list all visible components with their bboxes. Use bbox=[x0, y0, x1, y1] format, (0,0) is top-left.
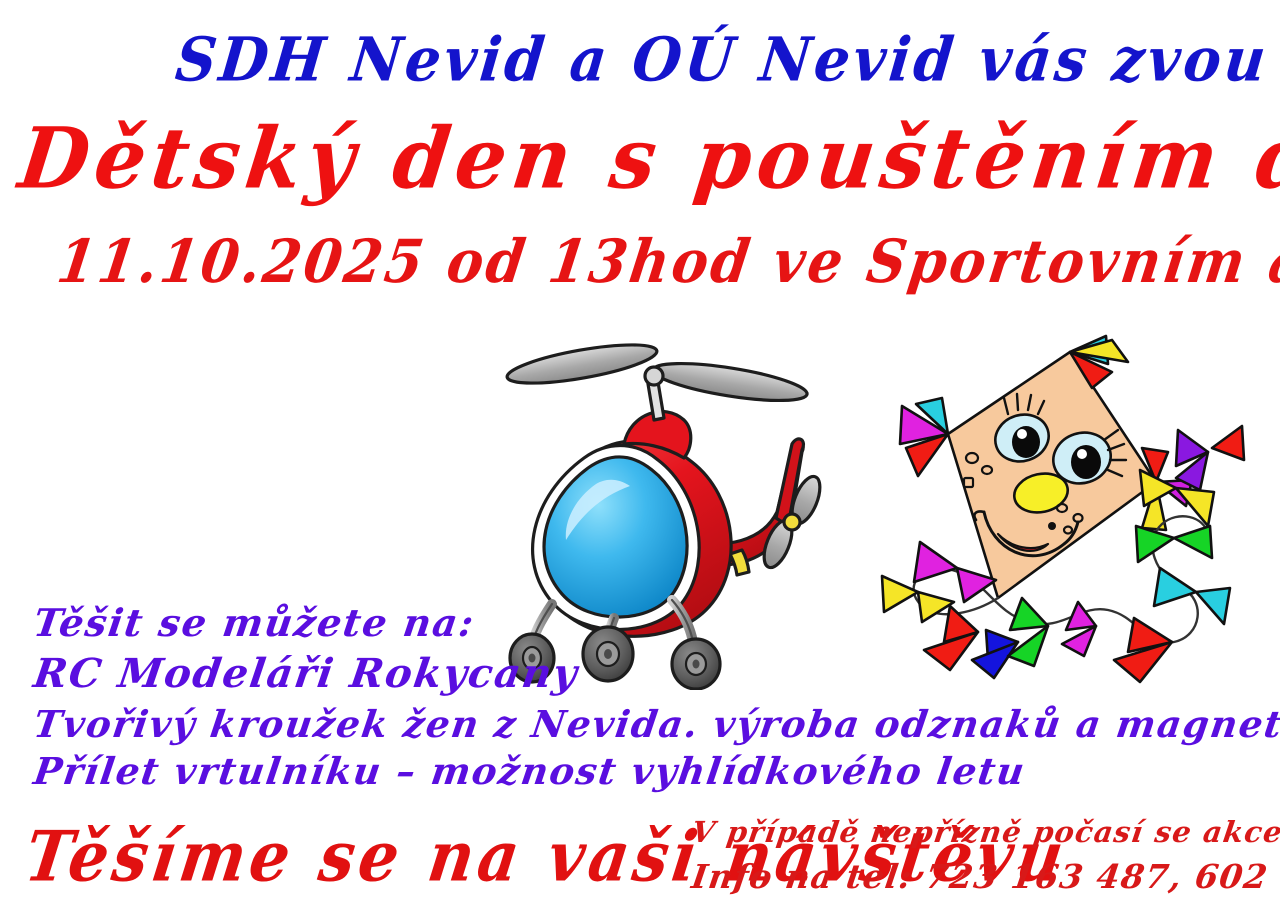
heli-main-rotor-hub bbox=[645, 367, 663, 385]
kite-eye-right-glint bbox=[1077, 449, 1087, 459]
kite-tail-bow-green-2 bbox=[1136, 526, 1212, 562]
kite-mole bbox=[1048, 522, 1056, 530]
page-title: Dětský den s pouštěním draků bbox=[15, 116, 1280, 200]
contact-phone-line: Info na tel: 723 163 487, 602 775 502 bbox=[690, 860, 1280, 893]
kite-eye-left-glint bbox=[1017, 429, 1027, 439]
programme-item-rc-modelari: RC Modeláři Rokycany bbox=[31, 654, 1237, 694]
heli-main-rotor-blade-left bbox=[505, 337, 660, 391]
programme-item-tvorivy-krouzek: Tvořivý kroužek žen z Nevida. výroba odz… bbox=[31, 706, 1236, 743]
date-venue-line: 11.10.2025 od 13hod ve Sportovním areálu… bbox=[54, 231, 1280, 290]
heli-tail-rotor-hub bbox=[784, 514, 800, 530]
heli-main-rotor-blade-right bbox=[651, 356, 809, 408]
programme-item-prilet-vrtulniku: Přílet vrtulníku – možnost vyhlídkového … bbox=[31, 753, 1236, 790]
kite-tail-bow-red-3 bbox=[1212, 426, 1244, 460]
kite-tail-bow-purple bbox=[1176, 430, 1208, 490]
invitation-line: SDH Nevid a OÚ Nevid vás zvou na bbox=[173, 30, 1280, 90]
weather-notice: V případě nepřízně počasí se akce ruší. bbox=[690, 818, 1280, 847]
programme-intro: Těšit se můžete na: bbox=[31, 604, 1236, 642]
kite-pupil-left bbox=[1012, 426, 1040, 458]
programme-block: Těšit se můžete na: RC Modeláři Rokycany… bbox=[34, 604, 1234, 790]
notice-block: V případě nepřízně počasí se akce ruší. … bbox=[692, 818, 1280, 893]
poster-canvas: SDH Nevid a OÚ Nevid vás zvou na Dětský … bbox=[0, 0, 1280, 905]
kite-pupil-right bbox=[1071, 445, 1101, 479]
